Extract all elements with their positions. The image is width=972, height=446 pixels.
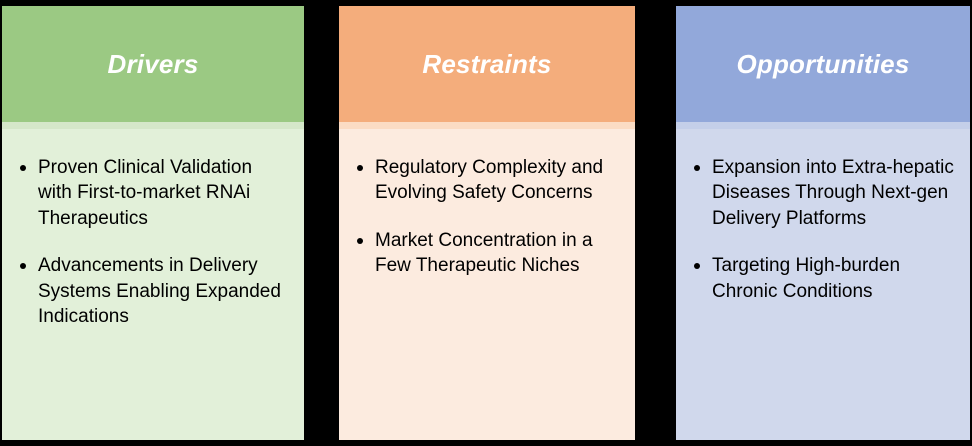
bullet-icon xyxy=(357,165,363,171)
bullet-icon xyxy=(694,165,700,171)
column-opportunities-divider xyxy=(676,122,970,129)
list-item-text: Advancements in Delivery Systems Enablin… xyxy=(38,255,281,327)
column-restraints: Restraints Regulatory Complexity and Evo… xyxy=(339,6,635,440)
list-item: Advancements in Delivery Systems Enablin… xyxy=(16,253,290,329)
list-item: Proven Clinical Validation with First-to… xyxy=(16,155,290,231)
list-item: Expansion into Extra-hepatic Diseases Th… xyxy=(690,155,956,231)
list-item: Market Concentration in a Few Therapeuti… xyxy=(353,228,621,279)
column-drivers-divider xyxy=(2,122,304,129)
list-item: Regulatory Complexity and Evolving Safet… xyxy=(353,155,621,206)
bullet-icon xyxy=(20,165,26,171)
column-drivers: Drivers Proven Clinical Validation with … xyxy=(2,6,304,440)
column-opportunities-title: Opportunities xyxy=(736,49,909,80)
list-item: Targeting High-burden Chronic Conditions xyxy=(690,253,956,304)
column-drivers-list: Proven Clinical Validation with First-to… xyxy=(16,155,290,330)
column-opportunities-header: Opportunities xyxy=(676,6,970,122)
column-restraints-title: Restraints xyxy=(422,49,551,80)
column-drivers-header: Drivers xyxy=(2,6,304,122)
column-restraints-header: Restraints xyxy=(339,6,635,122)
list-item-text: Proven Clinical Validation with First-to… xyxy=(38,157,252,229)
column-restraints-list: Regulatory Complexity and Evolving Safet… xyxy=(353,155,621,279)
list-item-text: Market Concentration in a Few Therapeuti… xyxy=(375,230,593,276)
swot-board: Drivers Proven Clinical Validation with … xyxy=(0,0,972,446)
column-opportunities-body: Expansion into Extra-hepatic Diseases Th… xyxy=(676,129,970,440)
column-drivers-body: Proven Clinical Validation with First-to… xyxy=(2,129,304,440)
bullet-icon xyxy=(20,263,26,269)
list-item-text: Expansion into Extra-hepatic Diseases Th… xyxy=(712,157,954,229)
list-item-text: Regulatory Complexity and Evolving Safet… xyxy=(375,157,603,203)
column-restraints-body: Regulatory Complexity and Evolving Safet… xyxy=(339,129,635,440)
column-opportunities-list: Expansion into Extra-hepatic Diseases Th… xyxy=(690,155,956,304)
column-restraints-divider xyxy=(339,122,635,129)
column-opportunities: Opportunities Expansion into Extra-hepat… xyxy=(676,6,970,440)
column-drivers-title: Drivers xyxy=(107,49,198,80)
bullet-icon xyxy=(357,238,363,244)
list-item-text: Targeting High-burden Chronic Conditions xyxy=(712,255,900,301)
bullet-icon xyxy=(694,263,700,269)
